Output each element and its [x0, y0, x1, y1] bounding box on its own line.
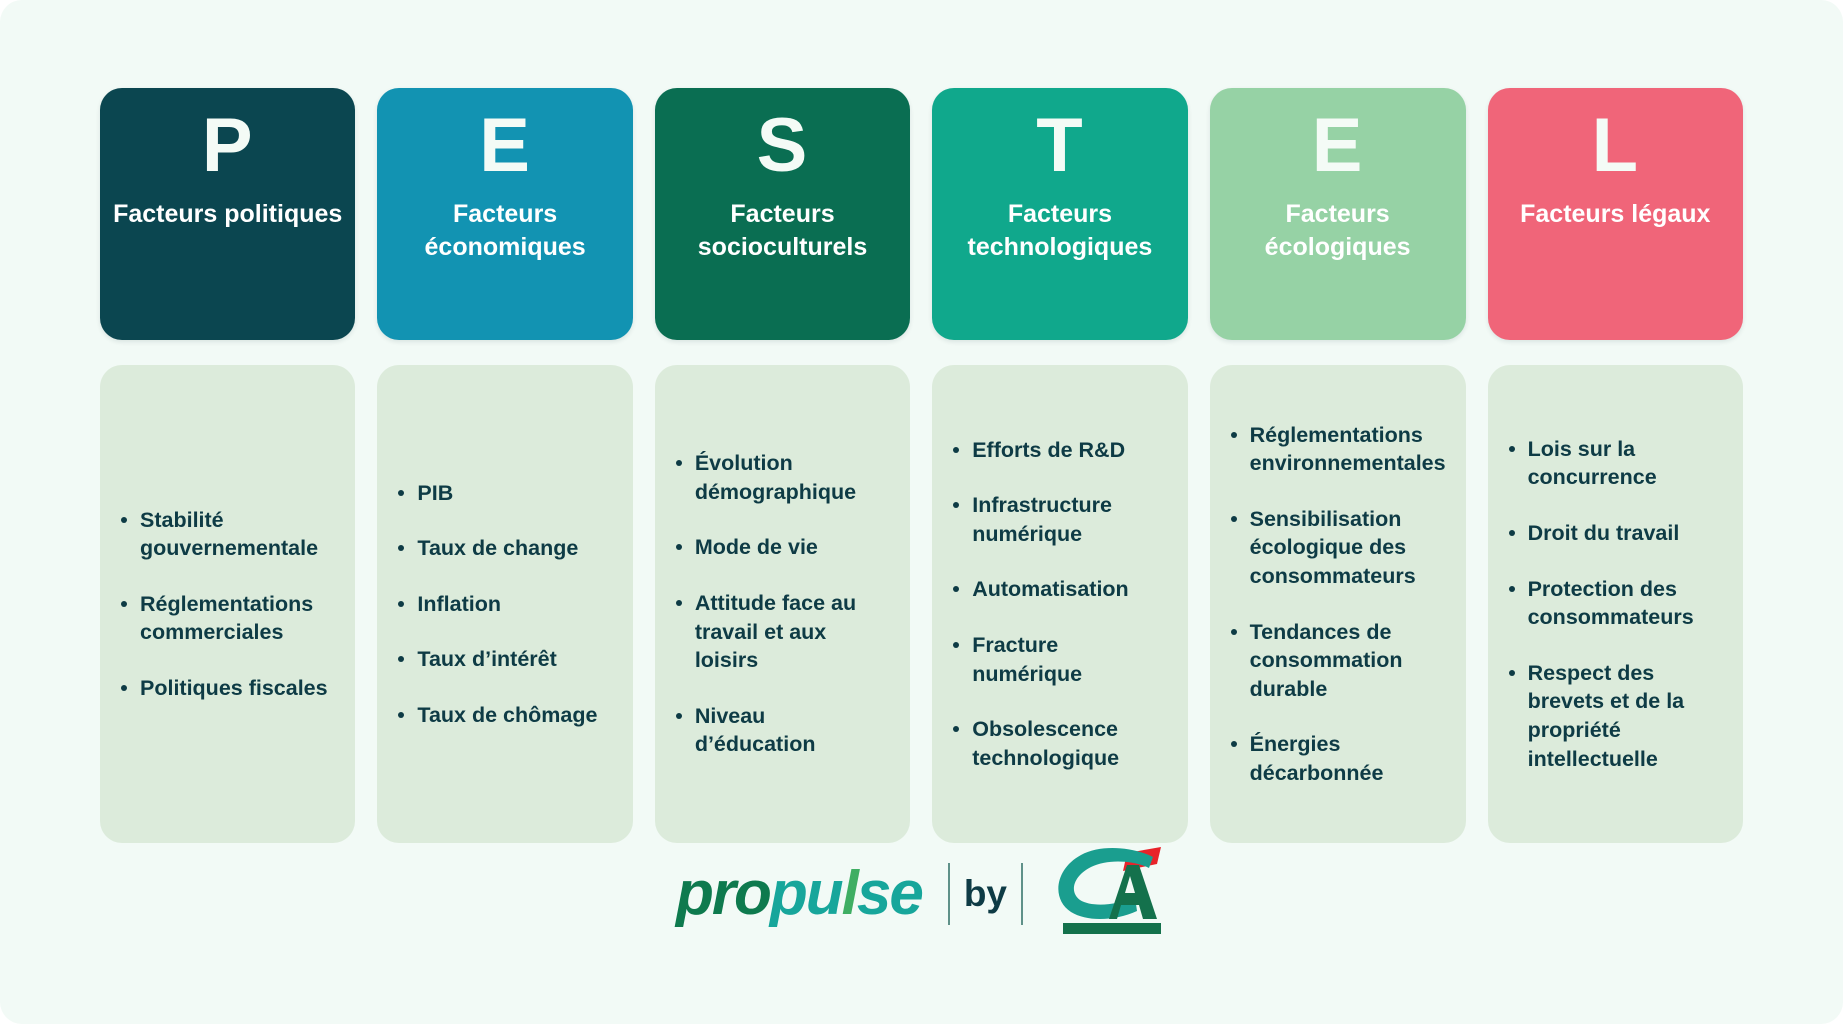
list-item: Tendances de consommation durable: [1228, 618, 1446, 704]
bullet-list-legal: Lois sur la concurrence Droit du travail…: [1506, 435, 1723, 773]
list-item: Mode de vie: [673, 533, 890, 562]
header-letter-e-ecological: E: [1312, 106, 1364, 186]
list-item: Respect des brevets et de la propriété i…: [1506, 659, 1723, 773]
header-letter-p: P: [202, 106, 254, 186]
list-item: Taux de chômage: [395, 701, 612, 730]
body-card-sociocultural: Évolution démographique Mode de vie Atti…: [655, 365, 910, 843]
header-title-ecological: Facteurs écologiques: [1210, 198, 1466, 265]
by-separator-group: by: [948, 863, 1023, 925]
list-item: Efforts de R&D: [950, 436, 1167, 465]
pestel-column-technological: T Facteurs technologiques Efforts de R&D…: [932, 88, 1187, 843]
body-card-technological: Efforts de R&D Infrastructure numérique …: [932, 365, 1187, 843]
footer-logo-lockup: propulse by: [0, 845, 1843, 942]
list-item: Infrastructure numérique: [950, 491, 1167, 548]
propulse-wordmark-part-pu: pu: [770, 859, 842, 928]
list-item: Taux de change: [395, 534, 612, 563]
list-item: Évolution démographique: [673, 449, 890, 506]
credit-agricole-ca-logo: [1049, 845, 1167, 942]
header-card-sociocultural[interactable]: S Facteurs socioculturels: [655, 88, 910, 340]
bullet-list-economic: PIB Taux de change Inflation Taux d’inté…: [395, 479, 612, 730]
bullet-list-technological: Efforts de R&D Infrastructure numérique …: [950, 436, 1167, 773]
list-item: Sensibilisation écologique des consommat…: [1228, 505, 1446, 591]
header-card-economic[interactable]: E Facteurs économiques: [377, 88, 632, 340]
header-letter-e-economic: E: [479, 106, 531, 186]
bullet-list-ecological: Réglementations environnementales Sensib…: [1228, 421, 1446, 788]
header-card-ecological[interactable]: E Facteurs écologiques: [1210, 88, 1466, 340]
list-item: Automatisation: [950, 575, 1167, 604]
list-item: Droit du travail: [1506, 519, 1723, 548]
pestel-column-legal: L Facteurs légaux Lois sur la concurrenc…: [1488, 88, 1743, 843]
pestel-column-ecological: E Facteurs écologiques Réglementations e…: [1210, 88, 1466, 843]
header-title-sociocultural: Facteurs socioculturels: [655, 198, 910, 265]
list-item: Fracture numérique: [950, 631, 1167, 688]
pestel-column-sociocultural: S Facteurs socioculturels Évolution démo…: [655, 88, 910, 843]
list-item: Inflation: [395, 590, 612, 619]
vertical-divider: [948, 863, 950, 925]
list-item: Niveau d’éducation: [673, 702, 890, 759]
header-letter-t: T: [1036, 106, 1083, 186]
header-letter-l: L: [1592, 106, 1639, 186]
header-title-legal: Facteurs légaux: [1510, 198, 1720, 231]
body-card-legal: Lois sur la concurrence Droit du travail…: [1488, 365, 1743, 843]
list-item: Réglementations environnementales: [1228, 421, 1446, 478]
vertical-divider: [1021, 863, 1023, 925]
list-item: Réglementations commerciales: [118, 590, 335, 647]
by-label: by: [964, 875, 1007, 912]
list-item: PIB: [395, 479, 612, 508]
body-card-economic: PIB Taux de change Inflation Taux d’inté…: [377, 365, 632, 843]
list-item: Lois sur la concurrence: [1506, 435, 1723, 492]
bullet-list-political: Stabilité gouvernementale Réglementation…: [118, 506, 335, 703]
propulse-wordmark-part-l: l: [842, 859, 857, 928]
list-item: Protection des consommateurs: [1506, 575, 1723, 632]
list-item: Stabilité gouvernementale: [118, 506, 335, 563]
list-item: Taux d’intérêt: [395, 645, 612, 674]
header-title-economic: Facteurs économiques: [377, 198, 632, 265]
header-card-technological[interactable]: T Facteurs technologiques: [932, 88, 1187, 340]
header-letter-s: S: [757, 106, 809, 186]
body-card-ecological: Réglementations environnementales Sensib…: [1210, 365, 1466, 843]
pestel-column-political: P Facteurs politiques Stabilité gouverne…: [100, 88, 355, 843]
header-card-legal[interactable]: L Facteurs légaux: [1488, 88, 1743, 340]
propulse-wordmark-part-pro: pro: [676, 859, 770, 928]
header-title-political: Facteurs politiques: [103, 198, 352, 231]
pestel-infographic: P Facteurs politiques Stabilité gouverne…: [0, 0, 1843, 1024]
body-card-political: Stabilité gouvernementale Réglementation…: [100, 365, 355, 843]
bullet-list-sociocultural: Évolution démographique Mode de vie Atti…: [673, 449, 890, 759]
propulse-wordmark-part-se: se: [857, 859, 922, 928]
list-item: Politiques fiscales: [118, 674, 335, 703]
list-item: Attitude face au travail et aux loisirs: [673, 589, 890, 675]
list-item: Énergies décarbonnée: [1228, 730, 1446, 787]
pestel-columns: P Facteurs politiques Stabilité gouverne…: [100, 88, 1743, 843]
pestel-column-economic: E Facteurs économiques PIB Taux de chang…: [377, 88, 632, 843]
propulse-wordmark: propulse: [676, 863, 922, 925]
header-title-technological: Facteurs technologiques: [932, 198, 1187, 265]
header-card-political[interactable]: P Facteurs politiques: [100, 88, 355, 340]
list-item: Obsolescence technologique: [950, 715, 1167, 772]
